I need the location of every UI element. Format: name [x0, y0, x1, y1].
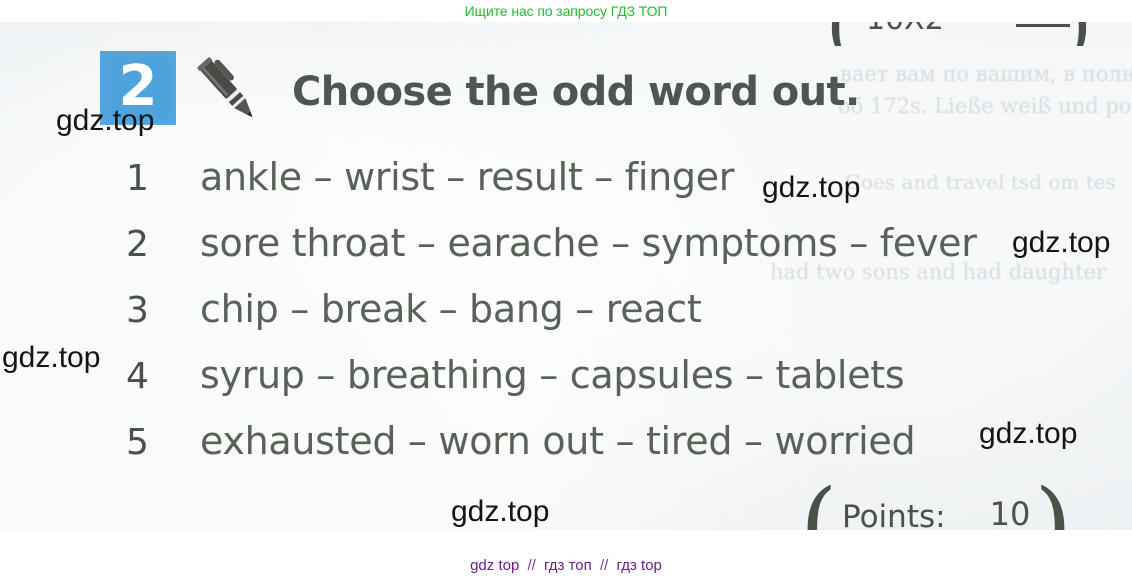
- watermark: gdz.top: [979, 417, 1077, 451]
- word-list-item: 5 exhausted – worn out – tired – worried: [126, 419, 977, 485]
- points-denominator: 10: [990, 495, 1031, 533]
- scan-bottom-margin: [0, 530, 1132, 552]
- word-item-text: syrup – breathing – capsules – tablets: [200, 353, 904, 397]
- ghost-text-line-2: об 172s. Ließe weiß und ровно: [838, 94, 1132, 118]
- word-item-number: 4: [126, 356, 200, 397]
- page-root: Ищите нас по запросу ГДЗ ТОП вает вам по…: [0, 0, 1132, 578]
- bottom-promo-banner: gdz top // гдз топ // гдз top: [0, 552, 1132, 578]
- watermark: gdz.top: [1012, 226, 1110, 260]
- watermark: gdz.top: [451, 495, 549, 529]
- top-promo-text: Ищите нас по запросу ГДЗ ТОП: [465, 3, 668, 19]
- word-item-text: sore throat – earache – symptoms – fever: [200, 221, 977, 265]
- previous-points-fraction-bar: [1016, 24, 1070, 27]
- ghost-text-line-1: вает вам по вашим, в полный, в отдел: [840, 62, 1132, 86]
- watermark: gdz.top: [56, 104, 154, 138]
- bottom-promo-separator-1: //: [523, 557, 539, 574]
- top-promo-banner: Ищите нас по запросу ГДЗ ТОП: [0, 0, 1132, 22]
- pen-icon: [186, 52, 266, 128]
- bottom-promo-text: gdz top // гдз топ // гдз top: [470, 557, 662, 574]
- previous-exercise-points-box: ( 10X2 ): [826, 22, 1096, 46]
- previous-points-paren-left: (: [826, 22, 855, 46]
- previous-points-multiplier: 10X2: [866, 22, 944, 37]
- bottom-promo-part-3: гдз top: [616, 557, 661, 574]
- word-item-text: exhausted – worn out – tired – worried: [200, 419, 915, 463]
- exercise-heading: Choose the odd word out.: [292, 69, 860, 115]
- watermark: gdz.top: [762, 171, 860, 205]
- bottom-promo-part-1: gdz top: [470, 557, 519, 574]
- word-item-number: 5: [126, 422, 200, 463]
- bottom-promo-separator-2: //: [596, 557, 612, 574]
- word-item-text: ankle – wrist – result – finger: [200, 155, 734, 199]
- word-item-text: chip – break – bang – react: [200, 287, 701, 331]
- points-label: Points:: [842, 502, 946, 534]
- bottom-promo-part-2: гдз топ: [544, 557, 592, 574]
- word-item-number: 3: [126, 290, 200, 331]
- points-fraction: 10: [978, 498, 1042, 530]
- word-list-item: 4 syrup – breathing – capsules – tablets: [126, 353, 977, 419]
- word-item-number: 2: [126, 224, 200, 265]
- scanned-textbook-page: вает вам по вашим, в полный, в отдел об …: [0, 22, 1132, 552]
- word-item-number: 1: [126, 158, 200, 199]
- word-list-item: 2 sore throat – earache – symptoms – fev…: [126, 221, 977, 287]
- previous-points-paren-right: ): [1063, 22, 1092, 46]
- word-list-item: 3 chip – break – bang – react: [126, 287, 977, 353]
- watermark: gdz.top: [2, 341, 100, 375]
